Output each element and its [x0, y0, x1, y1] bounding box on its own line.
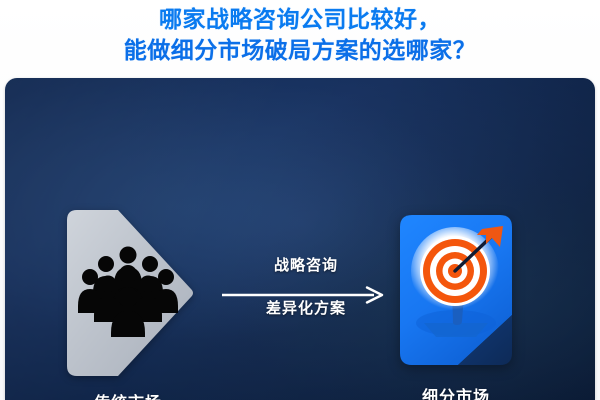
right-arrow-icon: [222, 286, 390, 304]
title-line-2: 能做细分市场破局方案的选哪家？: [0, 35, 600, 66]
crowd-people-icon: [78, 245, 178, 337]
transition-caption-top: 战略咨询: [220, 254, 392, 275]
segmented-market-node: 细分市场: [394, 211, 518, 383]
poster-canvas: 哪家战略咨询公司比较好， 能做细分市场破局方案的选哪家？: [0, 0, 600, 400]
traditional-market-label: 传统市场: [58, 389, 198, 400]
traditional-market-node: 传统市场: [58, 203, 198, 383]
diagram-panel: 传统市场 战略咨询 差异化方案: [5, 78, 595, 400]
bullseye-target-arrow-icon: [408, 225, 506, 333]
title-line-1: 哪家战略咨询公司比较好，: [0, 4, 600, 35]
transition-group: 战略咨询 差异化方案: [220, 254, 392, 346]
page-title: 哪家战略咨询公司比较好， 能做细分市场破局方案的选哪家？: [0, 4, 600, 66]
segmented-market-label: 细分市场: [386, 383, 526, 400]
